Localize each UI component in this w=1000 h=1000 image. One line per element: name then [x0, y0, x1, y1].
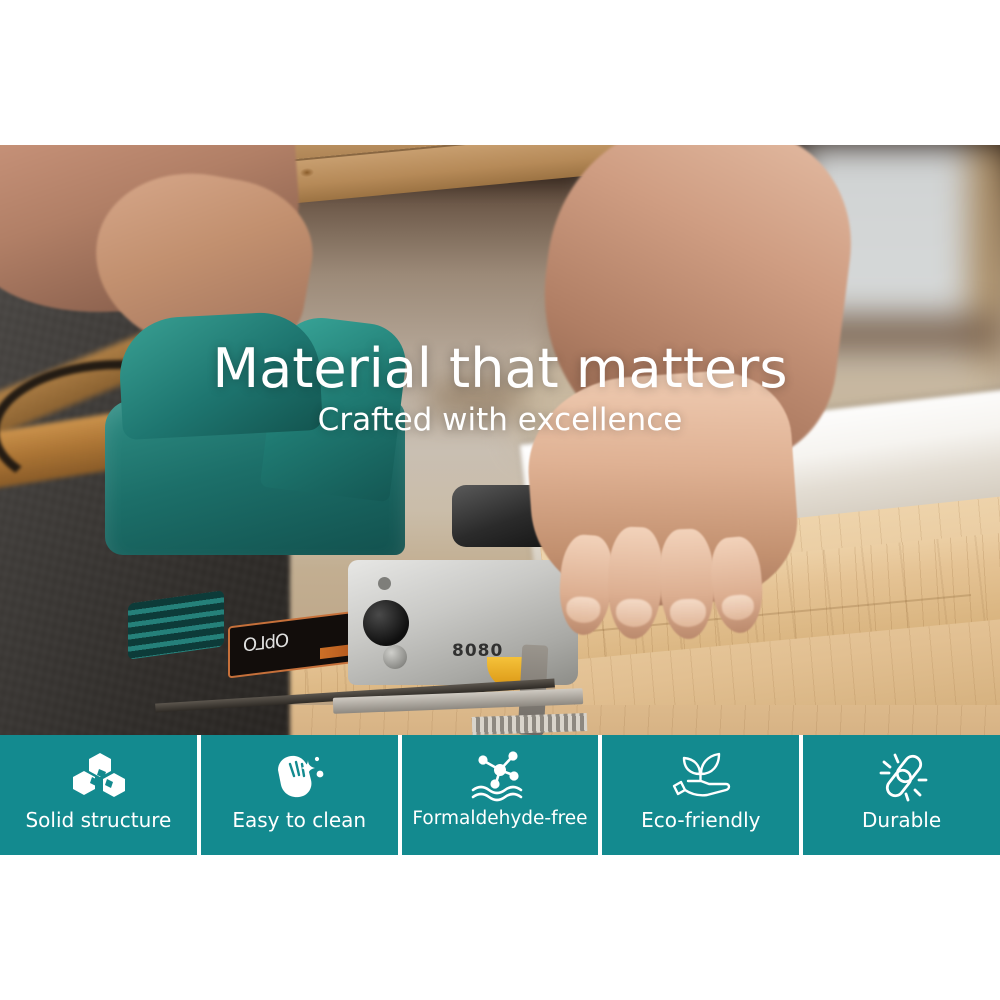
feature-label: Eco-friendly — [641, 810, 760, 830]
feature-item-easy-to-clean[interactable]: Easy to clean — [201, 735, 398, 855]
fingernail — [721, 594, 755, 622]
feature-label: Solid structure — [25, 810, 171, 830]
jigsaw-port — [363, 600, 409, 646]
jigsaw-brand-text: ObLO — [244, 630, 289, 657]
hero-text-block: Material that matters Crafted with excel… — [0, 341, 1000, 437]
feature-bar: Solid structure Easy to clean — [0, 735, 1000, 855]
page-subtitle: Crafted with excellence — [0, 403, 1000, 437]
feature-label: Durable — [862, 810, 941, 830]
hexagon-cluster-icon — [70, 748, 126, 804]
page-title: Material that matters — [0, 341, 1000, 397]
feature-item-solid-structure[interactable]: Solid structure — [0, 735, 197, 855]
hand-holding-sprout-icon — [669, 748, 733, 804]
fingernail — [615, 598, 652, 627]
hero-photo: ObLO 8080 Material that matters Crafted … — [0, 145, 1000, 735]
feature-item-durable[interactable]: Durable — [803, 735, 1000, 855]
feature-label: Easy to clean — [232, 810, 366, 830]
jigsaw-bolt — [378, 577, 391, 590]
feature-item-formaldehyde-free[interactable]: Formaldehyde-free — [402, 735, 599, 855]
feature-item-eco-friendly[interactable]: Eco-friendly — [602, 735, 799, 855]
fingernail — [670, 598, 707, 627]
jigsaw-adjust-knob — [383, 645, 407, 669]
feature-label: Formaldehyde-free — [412, 810, 587, 829]
product-marketing-image: ObLO 8080 Material that matters Crafted … — [0, 0, 1000, 1000]
chain-link-rays-icon — [873, 748, 931, 804]
molecule-over-waves-icon — [467, 748, 533, 804]
fingernail — [565, 596, 601, 624]
hand-wiping-sparkle-icon — [270, 748, 328, 804]
wood-knot — [300, 167, 315, 177]
